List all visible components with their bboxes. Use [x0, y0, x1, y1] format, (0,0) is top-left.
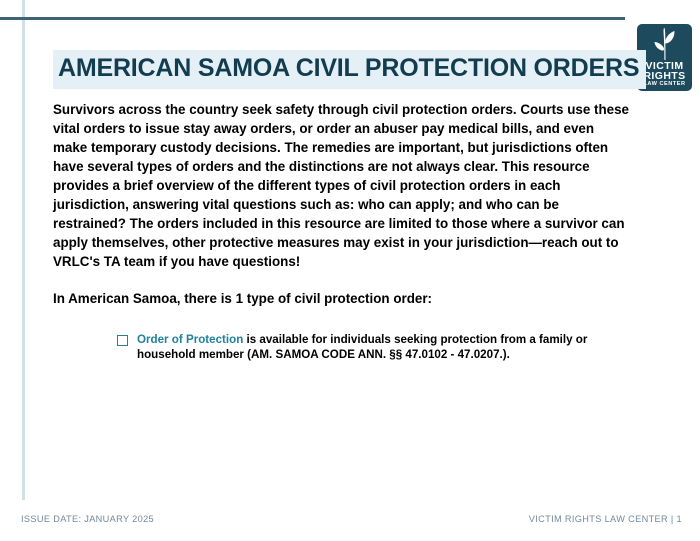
protection-order-list: Order of Protection is available for ind… [53, 332, 633, 363]
order-count-lead-in: In American Samoa, there is 1 type of ci… [53, 289, 633, 308]
top-horizontal-accent-rule [0, 17, 625, 20]
order-name-label: Order of Protection [137, 333, 243, 346]
issue-date: ISSUE DATE: JANUARY 2025 [21, 514, 154, 524]
document-body: AMERICAN SAMOA CIVIL PROTECTION ORDERS S… [53, 50, 633, 363]
left-vertical-accent-rule [22, 0, 25, 500]
page-title: AMERICAN SAMOA CIVIL PROTECTION ORDERS [53, 50, 646, 89]
checkbox-icon[interactable] [117, 335, 128, 346]
footer-attribution: VICTIM RIGHTS LAW CENTER | 1 [529, 514, 682, 524]
list-item: Order of Protection is available for ind… [53, 332, 633, 363]
intro-paragraph: Survivors across the country seek safety… [53, 100, 631, 271]
page-footer: ISSUE DATE: JANUARY 2025 VICTIM RIGHTS L… [0, 514, 700, 528]
